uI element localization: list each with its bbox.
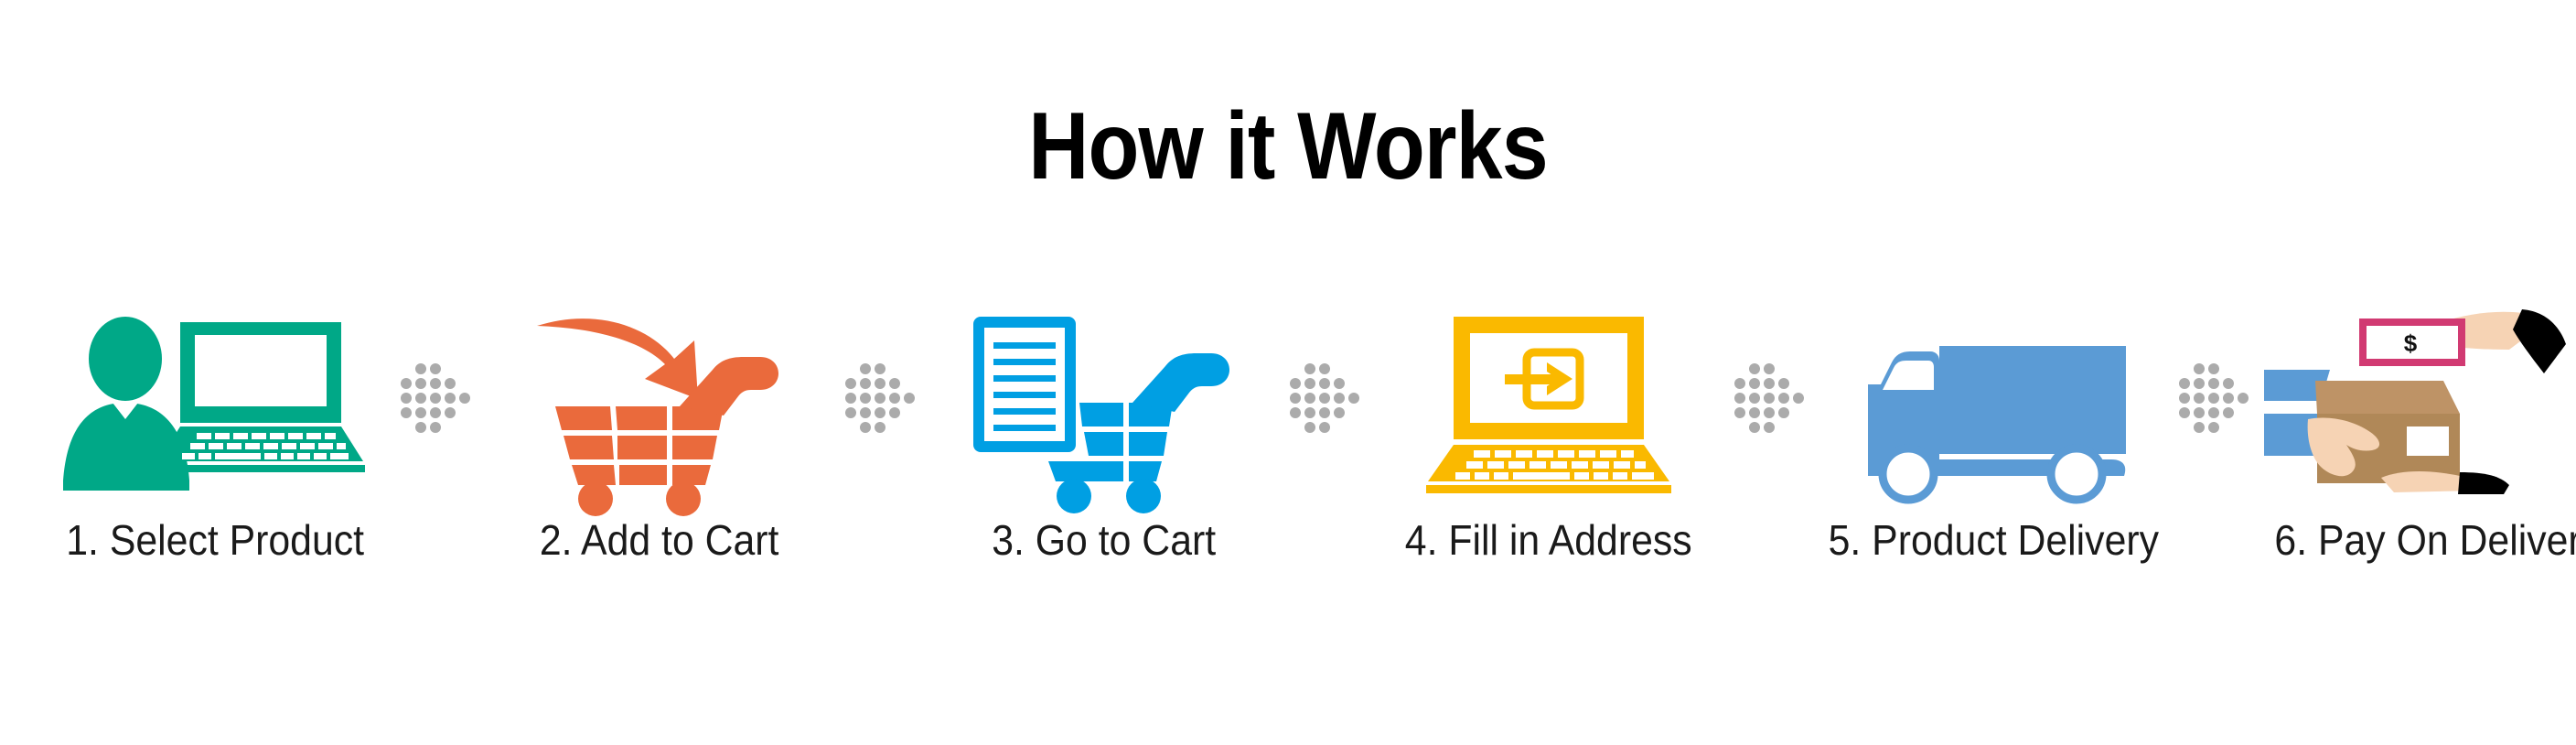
step-1-select-product[interactable]: 1. Select Product bbox=[37, 302, 393, 564]
infographic-page: How it Works bbox=[0, 0, 2576, 745]
document-with-cart-icon bbox=[926, 302, 1283, 494]
banknote-symbol: $ bbox=[2404, 329, 2418, 357]
step-5-product-delivery[interactable]: 5. Product Delivery bbox=[1815, 302, 2172, 564]
step-3-go-to-cart[interactable]: 3. Go to Cart bbox=[926, 302, 1283, 564]
dotted-arrow-icon-2 bbox=[838, 302, 926, 494]
step-5-label: 5. Product Delivery bbox=[1828, 516, 2158, 564]
laptop-with-login-icon bbox=[1370, 302, 1727, 494]
dotted-arrow-icon-5 bbox=[2172, 302, 2259, 494]
page-title: How it Works bbox=[155, 99, 2421, 194]
step-4-label: 4. Fill in Address bbox=[1405, 516, 1692, 564]
delivery-truck-icon bbox=[1815, 302, 2172, 494]
cart-with-arrow-icon bbox=[481, 302, 838, 494]
steps-row: 1. Select Product bbox=[37, 302, 2539, 668]
step-2-label: 2. Add to Cart bbox=[540, 516, 779, 564]
dotted-arrow-icon-3 bbox=[1283, 302, 1370, 494]
hands-exchange-box-and-cash-icon: $ bbox=[2259, 302, 2576, 494]
step-1-label: 1. Select Product bbox=[66, 516, 364, 564]
step-2-add-to-cart[interactable]: 2. Add to Cart bbox=[481, 302, 838, 564]
step-6-pay-on-delivery[interactable]: $ 6. Pay On Delivery bbox=[2259, 302, 2576, 564]
person-with-laptop-icon bbox=[37, 302, 393, 494]
step-6-label: 6. Pay On Delivery bbox=[2275, 516, 2576, 564]
step-3-label: 3. Go to Cart bbox=[993, 516, 1217, 564]
dotted-arrow-icon-4 bbox=[1727, 302, 1815, 494]
dotted-arrow-icon-1 bbox=[393, 302, 481, 494]
step-4-fill-in-address[interactable]: 4. Fill in Address bbox=[1370, 302, 1727, 564]
banknote: $ bbox=[2359, 319, 2465, 366]
